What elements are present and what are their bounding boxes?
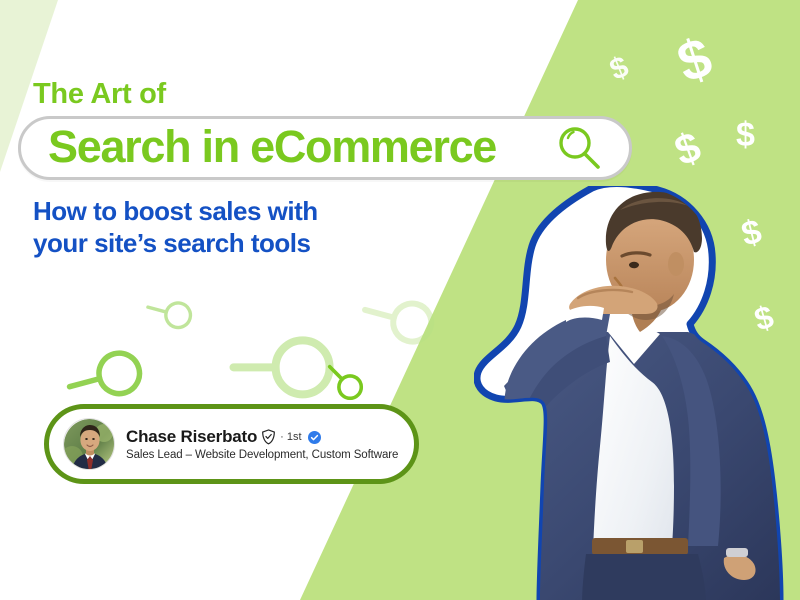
profile-card[interactable]: Chase Riserbato · 1st Sales Lead – Websi… [44, 404, 419, 484]
connection-degree: · 1st [280, 431, 301, 443]
profile-name-row: Chase Riserbato · 1st [126, 427, 398, 447]
dollar-sign-3: $ [736, 118, 755, 152]
blue-check-badge-icon [308, 431, 321, 444]
subheadline-text: How to boost sales with your site’s sear… [33, 196, 318, 259]
verified-shield-icon [261, 429, 276, 445]
magnifying-glass-icon[interactable] [555, 124, 603, 172]
search-bar-title: Search in eCommerce [48, 121, 496, 173]
search-bar[interactable]: Search in eCommerce [18, 116, 632, 180]
banner-canvas: $$$$$$ [0, 0, 800, 600]
profile-title: Sales Lead – Website Development, Custom… [126, 449, 398, 461]
hero-person-photo [474, 186, 800, 600]
eyebrow-text: The Art of [33, 78, 166, 111]
profile-text-block: Chase Riserbato · 1st Sales Lead – Websi… [126, 427, 398, 461]
profile-name: Chase Riserbato [126, 427, 257, 447]
avatar [63, 418, 115, 470]
magnifier-decor-pin-right [315, 352, 363, 400]
